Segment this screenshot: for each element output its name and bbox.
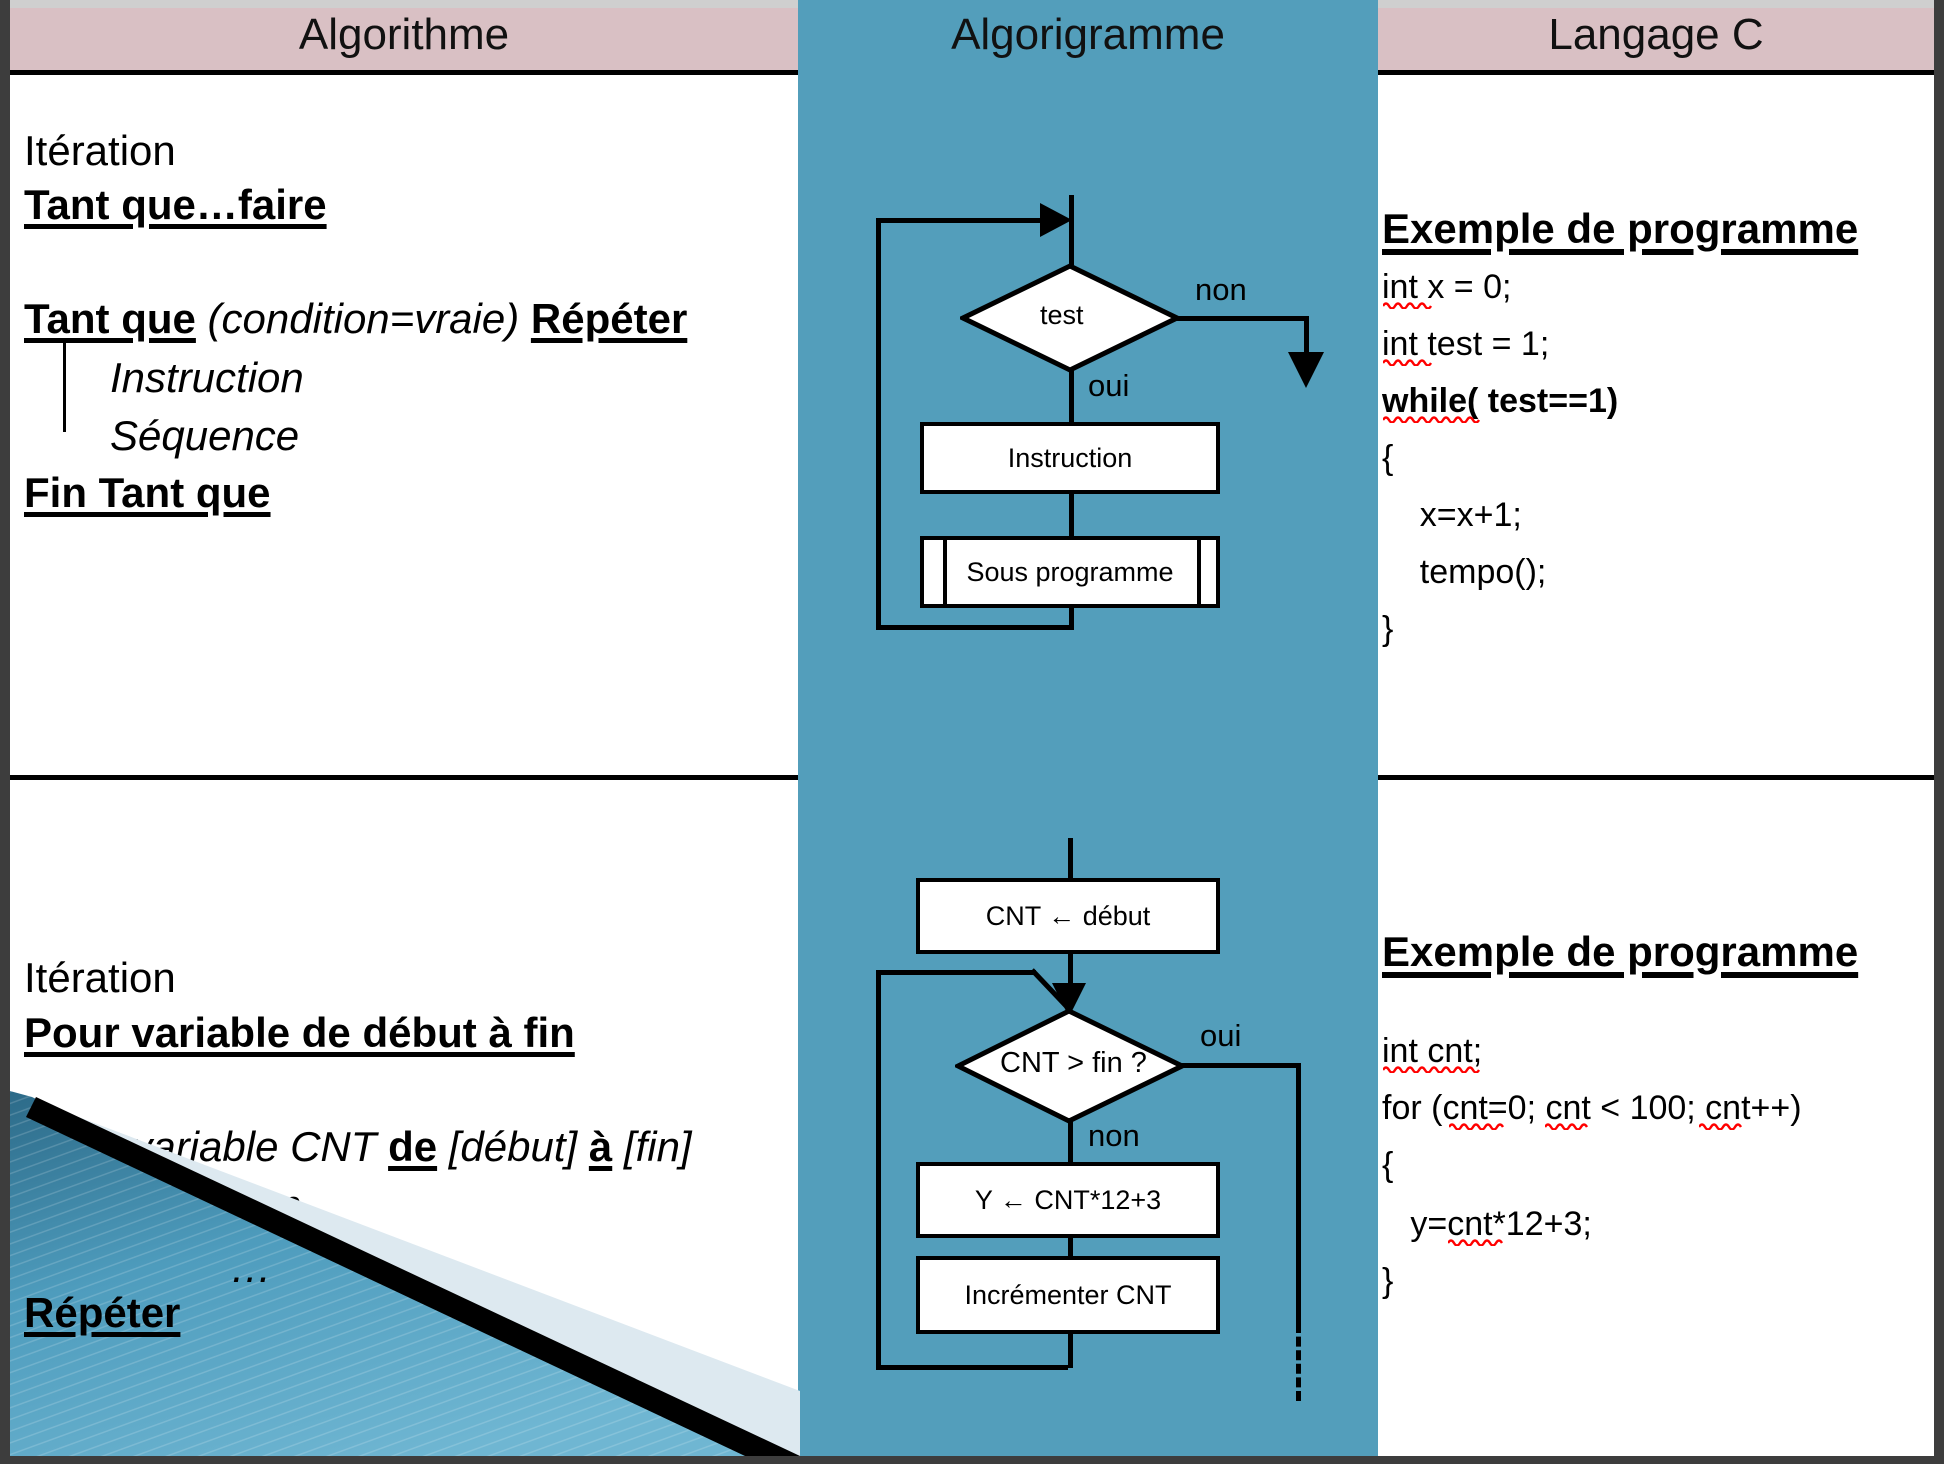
row2-oui-branch-dashed-exit — [1296, 1323, 1306, 1401]
row2-loopback-top-horizontal — [876, 970, 1036, 975]
row1-condition-text: (condition=vraie) — [196, 295, 531, 342]
row1-non-branch-horizontal — [1174, 316, 1306, 321]
header-divider-left — [10, 70, 798, 75]
row1-algorithm-line-fin-tantque: Fin Tant que — [24, 470, 271, 516]
row1-subroutine-left-bar — [943, 540, 947, 604]
row2-box-compute-label: Y ← CNT*12+3 — [975, 1185, 1161, 1216]
row1-subprogram-to-loopback-line — [1069, 608, 1074, 630]
row2-label-oui: oui — [1200, 1018, 1241, 1054]
row1-loopback-bottom-horizontal — [876, 625, 1072, 630]
header-divider-right — [1378, 70, 1934, 75]
spellcheck-squiggle-icon — [1383, 1064, 1483, 1073]
row2-box-init-label: CNT ← début — [986, 901, 1151, 932]
row2-oui-branch-vertical — [1296, 1063, 1301, 1323]
row1-code-line-4: x=x+1; — [1382, 496, 1522, 535]
row2-increment-to-loopback-line — [1068, 1334, 1073, 1368]
row1-block-bracket — [63, 340, 66, 432]
header-label-algorithme: Algorithme — [10, 12, 798, 58]
row2-box-increment: Incrémenter CNT — [916, 1256, 1220, 1334]
row1-non-branch-arrowhead-icon — [1288, 352, 1324, 388]
row1-algorithm-line-sequence: Séquence — [110, 413, 299, 459]
row2-algorithm-line-iteration: Itération — [24, 955, 176, 1001]
row1-instruction-to-subprogram-line — [1069, 494, 1074, 536]
spellcheck-squiggle-icon — [1545, 1121, 1591, 1130]
row1-algorithm-line-tantque-condition: Tant que (condition=vraie) Répéter — [24, 296, 687, 342]
row2-loopback-vertical — [876, 970, 881, 1370]
row1-code-line-3: { — [1382, 439, 1393, 478]
row2-code-line-2: { — [1382, 1146, 1393, 1185]
frame-left-edge — [0, 0, 10, 1464]
spellcheck-squiggle-icon — [1383, 300, 1435, 309]
row2-box-init: CNT ← début — [916, 878, 1220, 954]
row2-code-title: Exemple de programme — [1382, 928, 1858, 976]
row2-decision-label: CNT > fin ? — [1000, 1047, 1147, 1080]
row1-decision-label: test — [1040, 300, 1084, 331]
row1-label-oui: oui — [1088, 368, 1129, 404]
row1-keyword-tantque: Tant que — [24, 295, 196, 342]
row1-code-line-5: tempo(); — [1382, 553, 1546, 592]
row2-algorithm-line-pour-variable: Pour variable de début à fin — [24, 1010, 575, 1056]
spellcheck-squiggle-icon — [1383, 357, 1435, 366]
row1-loopback-top-horizontal — [876, 218, 1046, 223]
row1-loopback-arrowhead-icon — [1040, 203, 1072, 237]
row1-code-line-6: } — [1382, 610, 1393, 649]
decorative-corner-graphic — [10, 1091, 800, 1456]
row1-box-sous-programme-label: Sous programme — [966, 557, 1173, 588]
row2-box-increment-label: Incrémenter CNT — [964, 1280, 1171, 1311]
spellcheck-squiggle-icon — [1383, 414, 1483, 423]
row1-oui-branch-vertical — [1069, 368, 1074, 422]
row2-oui-branch-horizontal — [1178, 1063, 1300, 1068]
header-label-langage-c: Langage C — [1378, 12, 1934, 58]
row2-compute-to-increment-line — [1068, 1238, 1073, 1258]
row1-label-non: non — [1195, 272, 1247, 308]
row1-algorithm-line-instruction: Instruction — [110, 355, 304, 401]
row1-algorithm-line-iteration: Itération — [24, 128, 176, 174]
header-label-algorigramme: Algorigramme — [798, 12, 1378, 58]
row2-loopback-bottom-horizontal — [876, 1365, 1068, 1370]
spellcheck-squiggle-icon — [1699, 1121, 1745, 1130]
row1-box-instruction-label: Instruction — [1008, 443, 1133, 474]
row1-code-title: Exemple de programme — [1382, 205, 1858, 253]
row2-label-non: non — [1088, 1118, 1140, 1154]
row1-subroutine-right-bar — [1197, 540, 1201, 604]
row1-box-sous-programme: Sous programme — [920, 536, 1220, 608]
row1-box-instruction: Instruction — [920, 422, 1220, 494]
row-divider-right — [1378, 775, 1934, 780]
row1-algorithm-line-tantque-faire: Tant que…faire — [24, 182, 327, 228]
spellcheck-squiggle-icon — [1449, 1121, 1505, 1130]
row2-algorithm-line-ellipsis: … — [230, 1245, 272, 1291]
row1-keyword-repeter: Répéter — [531, 295, 687, 342]
frame-right-edge — [1934, 0, 1944, 1464]
row2-non-branch-vertical — [1068, 1118, 1073, 1168]
row2-code-line-4: } — [1382, 1262, 1393, 1301]
row-divider-left — [10, 775, 798, 780]
row2-box-compute: Y ← CNT*12+3 — [916, 1162, 1220, 1238]
frame-bottom-edge — [0, 1456, 1944, 1464]
slide-canvas: Algorithme Algorigramme Langage C Itérat… — [0, 0, 1944, 1464]
spellcheck-squiggle-icon — [1448, 1237, 1504, 1246]
row1-loopback-vertical — [876, 218, 881, 630]
row2-algorithm-line-repeter: Répéter — [24, 1290, 180, 1336]
